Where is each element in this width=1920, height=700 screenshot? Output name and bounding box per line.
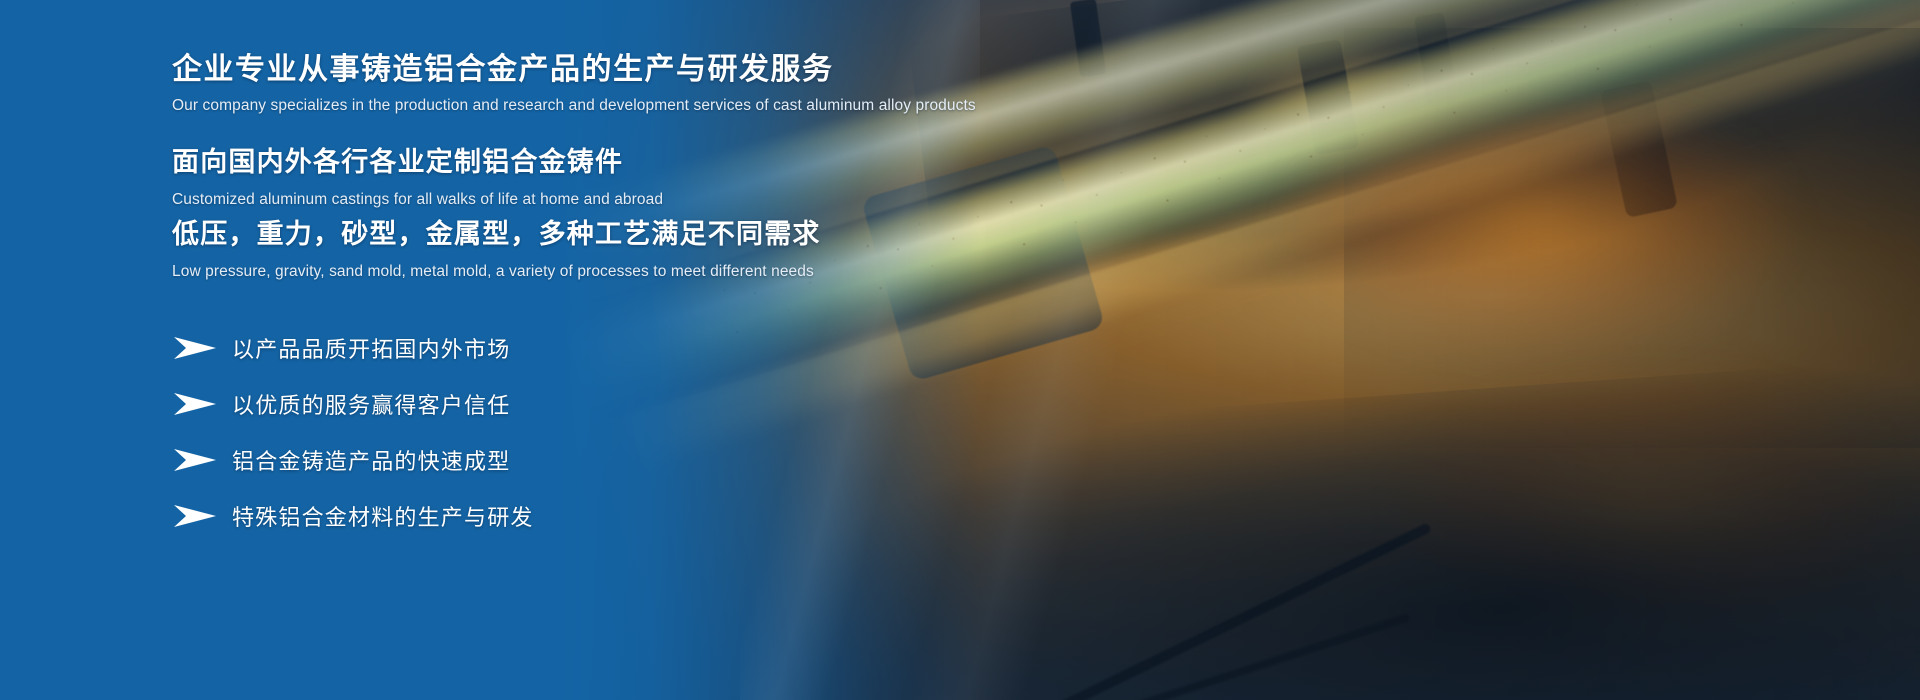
list-item: 以产品品质开拓国内外市场 bbox=[172, 320, 534, 376]
headline-tertiary-cn: 低压，重力，砂型，金属型，多种工艺满足不同需求 bbox=[172, 218, 821, 250]
hero-banner: 企业专业从事铸造铝合金产品的生产与研发服务 Our company specia… bbox=[0, 0, 1920, 700]
list-item-label: 特殊铝合金材料的生产与研发 bbox=[232, 500, 534, 532]
list-item-label: 以优质的服务赢得客户信任 bbox=[232, 388, 510, 420]
feature-list: 以产品品质开拓国内外市场 以优质的服务赢得客户信任 铝合金铸造产品的快速成型 特… bbox=[172, 320, 534, 544]
list-item: 特殊铝合金材料的生产与研发 bbox=[172, 488, 534, 544]
list-item-label: 铝合金铸造产品的快速成型 bbox=[232, 444, 510, 476]
headline-primary-cn: 企业专业从事铸造铝合金产品的生产与研发服务 bbox=[172, 52, 834, 88]
arrow-right-icon bbox=[172, 502, 218, 530]
list-item: 铝合金铸造产品的快速成型 bbox=[172, 432, 534, 488]
banner-content: 企业专业从事铸造铝合金产品的生产与研发服务 Our company specia… bbox=[0, 0, 1920, 700]
headline-tertiary-en: Low pressure, gravity, sand mold, metal … bbox=[172, 262, 814, 282]
arrow-right-icon bbox=[172, 446, 218, 474]
list-item: 以优质的服务赢得客户信任 bbox=[172, 376, 534, 432]
headline-primary-en: Our company specializes in the productio… bbox=[172, 96, 976, 116]
list-item-label: 以产品品质开拓国内外市场 bbox=[232, 332, 510, 364]
headline-secondary-en: Customized aluminum castings for all wal… bbox=[172, 190, 663, 210]
headline-secondary-cn: 面向国内外各行各业定制铝合金铸件 bbox=[172, 146, 623, 178]
arrow-right-icon bbox=[172, 390, 218, 418]
arrow-right-icon bbox=[172, 334, 218, 362]
